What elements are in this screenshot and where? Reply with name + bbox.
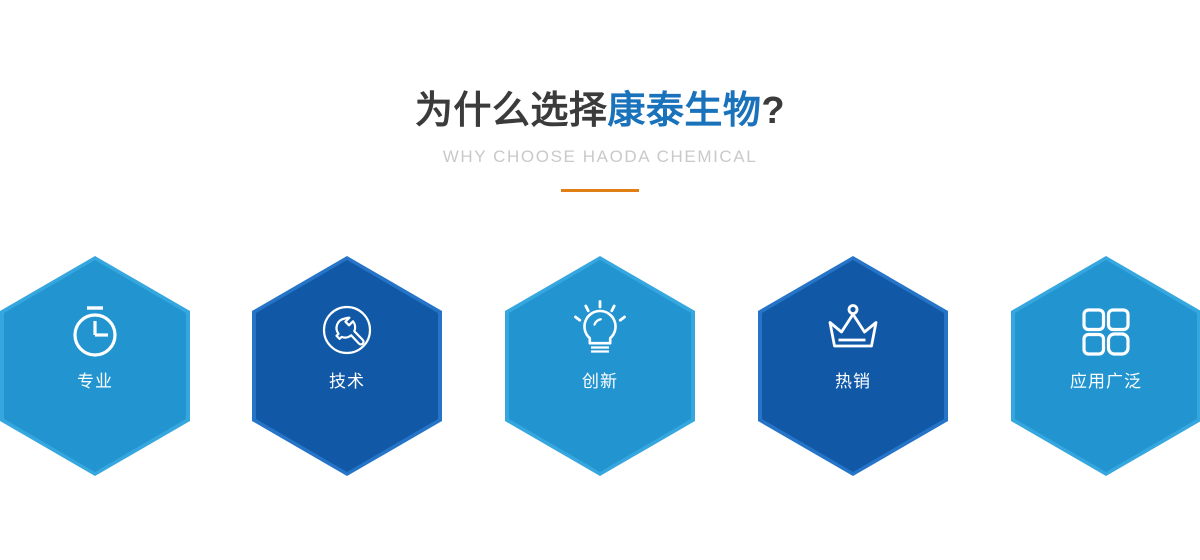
feature-card-innovation[interactable]: 创新 — [505, 256, 695, 476]
feature-card-best-seller[interactable]: 热销 — [758, 256, 948, 476]
section-header: 为什么选择康泰生物? WHY CHOOSE HAODA CHEMICAL — [0, 0, 1200, 192]
feature-card-wide-application[interactable]: 应用广泛 — [1011, 256, 1200, 476]
feature-card-technology[interactable]: 技术 — [252, 256, 442, 476]
page-subtitle: WHY CHOOSE HAODA CHEMICAL — [0, 134, 1200, 168]
feature-card-label: 技术 — [329, 371, 365, 393]
page-title-brand: 康泰生物 — [607, 90, 761, 132]
wrench-circle-icon — [315, 298, 379, 362]
feature-card-label: 应用广泛 — [1070, 371, 1142, 393]
feature-card-professional[interactable]: 专业 — [0, 256, 190, 476]
feature-card-label: 热销 — [835, 371, 871, 393]
feature-card-label: 专业 — [77, 371, 113, 393]
page-title-suffix: ? — [761, 90, 785, 132]
feature-card-row: 专业 技术 — [0, 256, 1200, 476]
lightbulb-icon — [568, 298, 632, 362]
crown-icon — [821, 298, 885, 362]
page-title-prefix: 为什么选择 — [415, 90, 608, 132]
feature-card-label: 创新 — [582, 371, 618, 393]
grid-squares-icon — [1074, 298, 1138, 362]
title-divider — [561, 189, 639, 192]
stopwatch-icon — [63, 298, 127, 362]
page-title: 为什么选择康泰生物? — [0, 0, 1200, 134]
